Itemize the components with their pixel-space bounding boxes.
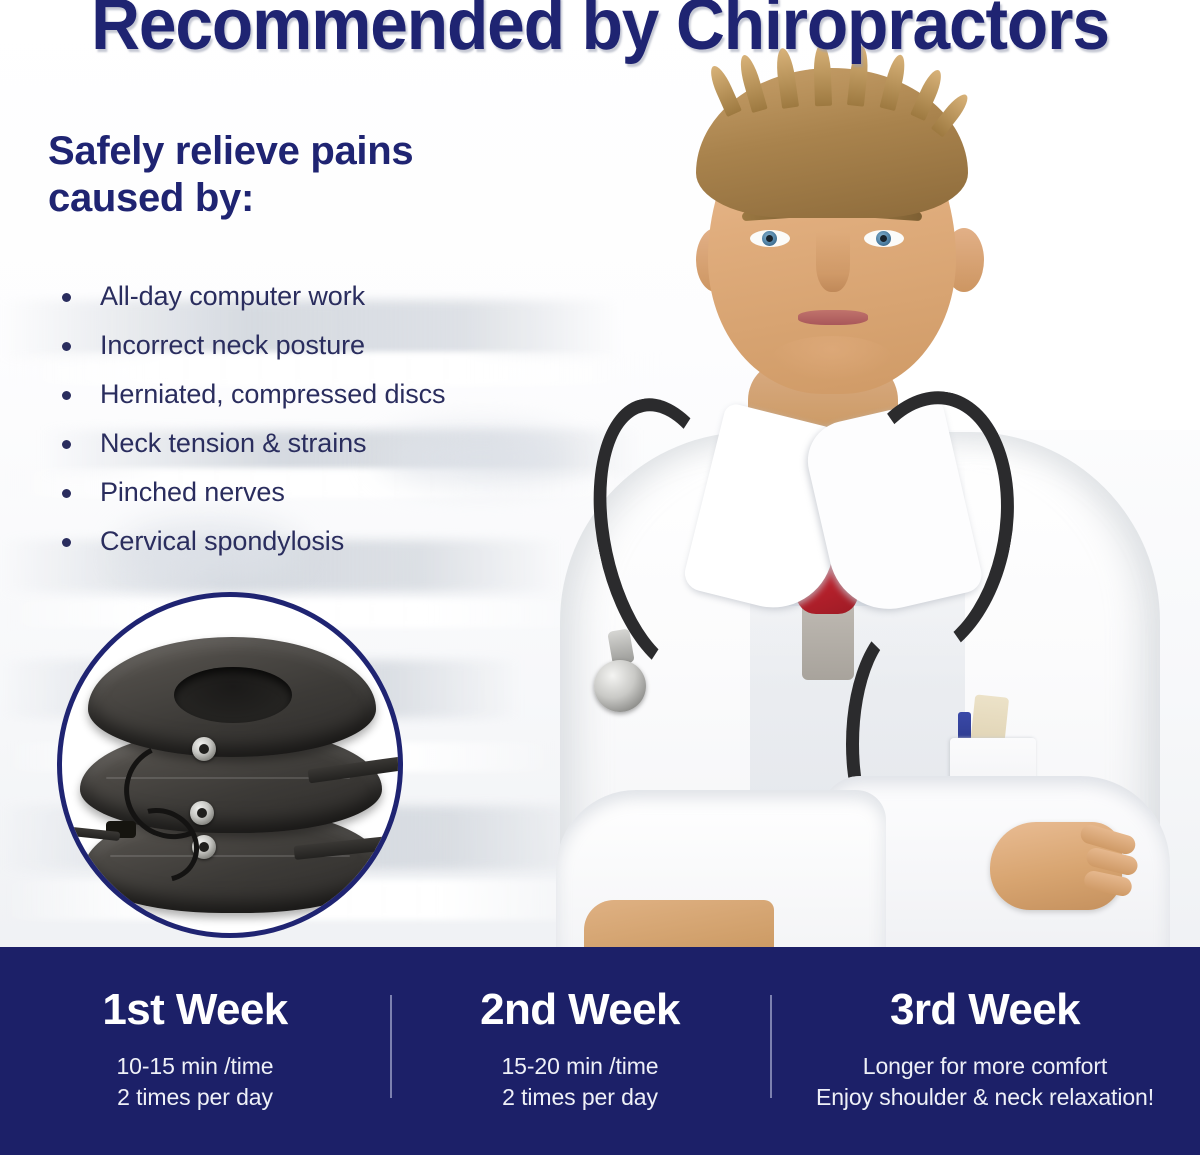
subheading: Safely relieve pains caused by: (48, 128, 568, 222)
bullet-dot-icon (62, 342, 71, 351)
bullet-dot-icon (62, 489, 71, 498)
week-duration: Longer for more comfort (770, 1051, 1200, 1082)
nose (816, 232, 850, 292)
schedule-column-week1: 1st Week 10-15 min /time 2 times per day (0, 947, 390, 1155)
usage-schedule-banner: 1st Week 10-15 min /time 2 times per day… (0, 947, 1200, 1155)
eye-right (864, 230, 904, 247)
stethoscope-chestpiece (594, 660, 646, 712)
bullet-dot-icon (62, 440, 71, 449)
doctor-photo (520, 60, 1200, 950)
list-item: Cervical spondylosis (48, 517, 608, 566)
schedule-divider-2 (770, 995, 772, 1098)
list-item: Pinched nerves (48, 468, 608, 517)
bullet-dot-icon (62, 293, 71, 302)
subheading-line-1: Safely relieve pains (48, 128, 568, 175)
pupil-right (880, 235, 887, 242)
list-item: All-day computer work (48, 272, 608, 321)
week-details: 10-15 min /time 2 times per day (0, 1051, 390, 1113)
list-item: Incorrect neck posture (48, 321, 608, 370)
week-title: 1st Week (0, 985, 390, 1035)
neck-traction-device (62, 597, 398, 933)
week-title: 2nd Week (390, 985, 770, 1035)
mouth (798, 310, 868, 325)
subheading-line-2: caused by: (48, 175, 568, 222)
week-title: 3rd Week (770, 985, 1200, 1035)
collar-layer-top (88, 637, 376, 757)
list-item-label: Pinched nerves (100, 477, 285, 507)
list-item-label: Neck tension & strains (100, 428, 366, 458)
week-duration: 10-15 min /time (0, 1051, 390, 1082)
week-frequency: 2 times per day (0, 1082, 390, 1113)
list-item: Neck tension & strains (48, 419, 608, 468)
product-image-circle (57, 592, 403, 938)
eye-left (750, 230, 790, 247)
list-item: Herniated, compressed discs (48, 370, 608, 419)
week-details: Longer for more comfort Enjoy shoulder &… (770, 1051, 1200, 1113)
pupil-left (766, 235, 773, 242)
list-item-label: Cervical spondylosis (100, 526, 344, 556)
infographic-page: Recommended by Chiropractors Safely reli… (0, 0, 1200, 1155)
schedule-column-week3: 3rd Week Longer for more comfort Enjoy s… (770, 947, 1200, 1155)
bullet-dot-icon (62, 391, 71, 400)
list-item-label: All-day computer work (100, 281, 365, 311)
week-frequency: Enjoy shoulder & neck relaxation! (770, 1082, 1200, 1113)
week-duration: 15-20 min /time (390, 1051, 770, 1082)
symptom-list: All-day computer work Incorrect neck pos… (48, 272, 608, 566)
week-details: 15-20 min /time 2 times per day (390, 1051, 770, 1113)
collar-opening (174, 667, 292, 723)
bullet-dot-icon (62, 538, 71, 547)
schedule-column-week2: 2nd Week 15-20 min /time 2 times per day (390, 947, 770, 1155)
list-item-label: Herniated, compressed discs (100, 379, 445, 409)
page-title: Recommended by Chiropractors (36, 0, 1164, 66)
list-item-label: Incorrect neck posture (100, 330, 365, 360)
week-frequency: 2 times per day (390, 1082, 770, 1113)
hair-spike-1 (706, 63, 742, 117)
chin-highlight (772, 336, 892, 380)
schedule-divider-1 (390, 995, 392, 1098)
